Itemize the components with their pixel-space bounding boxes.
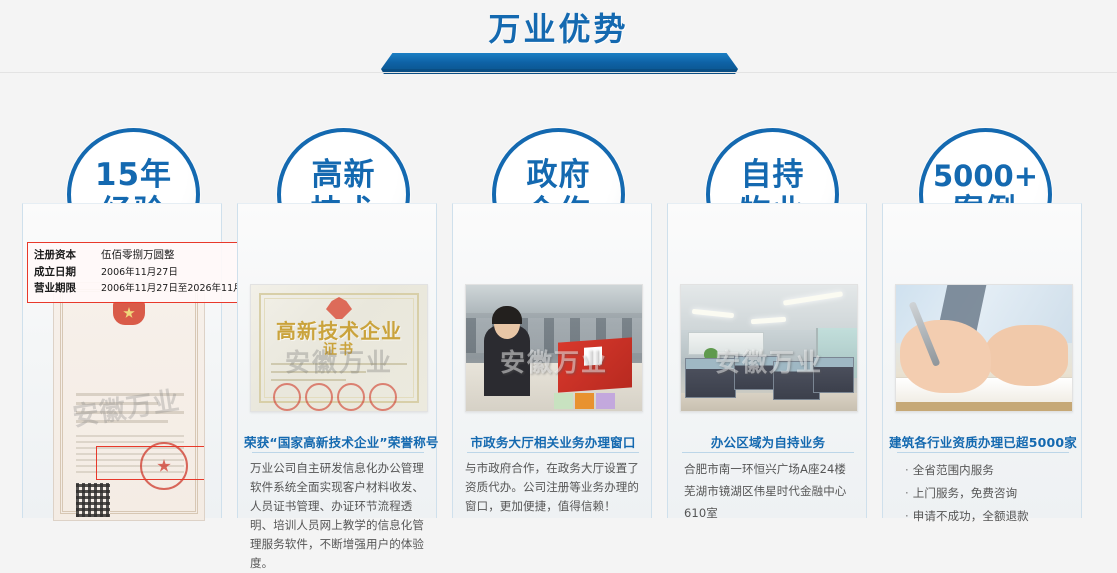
highlight-circle-5-line1: 5000+ (933, 162, 1038, 192)
office-address-line: 合肥市南一环恒兴广场A座24楼 (684, 459, 856, 481)
office-cubicle (813, 357, 854, 393)
license-text-lines (76, 393, 184, 429)
advantage-card-cases[interactable]: 建筑各行业资质办理已超5000家 全省范围内服务 上门服务，免费咨询 申请不成功… (882, 203, 1082, 518)
card-3-caption-body: 与市政府合作，在政务大厅设置了资质代办。公司注册等业务办理的窗口，更加便捷，值得… (465, 459, 641, 516)
office-cubicle (685, 358, 736, 398)
business-license-image: 安徽万业 (53, 282, 205, 521)
hall-brochures (554, 391, 638, 409)
section-header: 万业优势 (0, 0, 1117, 85)
advantage-card-hightech[interactable]: 高新技术企业 证书 安徽万业 荣获“国家高新技术企业”荣誉称号 万业公司自主研发… (237, 203, 437, 518)
header-divider (0, 72, 1117, 73)
card-2-caption-title: 荣获“国家高新技术企业”荣誉称号 (244, 432, 432, 451)
government-hall-photo: 安徽万业 (465, 284, 643, 412)
writing-hand (900, 320, 992, 393)
certificate-seals (273, 383, 405, 409)
advantages-section: 万业优势 15年 经验 高新 技术 政府 合作 自持 物业 5000+ 案例 (0, 0, 1117, 518)
license-annotation-value-2: 2006年11月27日 (101, 265, 178, 280)
certificate-subtitle: 证书 (251, 339, 427, 359)
card-4-caption-title: 办公区域为自持业务 (674, 432, 862, 451)
highlight-circle-4-line1: 自持 (741, 160, 805, 192)
office-cubicle (734, 356, 778, 391)
license-annotation-label-2: 成立日期 (34, 264, 96, 281)
license-annotation-label-1: 注册资本 (34, 247, 96, 264)
staff-person (484, 325, 530, 396)
card-3-caption-title: 市政务大厅相关业务办理窗口 (459, 432, 647, 451)
highlight-circle-2-line1: 高新 (312, 160, 376, 192)
desk-surface (896, 402, 1072, 411)
license-annotation-label-3: 营业期限 (34, 280, 96, 297)
license-annotation-row-1: 注册资本 伍佰零捌万圆整 (34, 247, 236, 264)
title-banner-shape (381, 53, 738, 69)
license-annotation-row-3: 营业期限 2006年11月27日至2026年11月26日 (34, 280, 236, 297)
license-annotation-overlay: 注册资本 伍佰零捌万圆整 成立日期 2006年11月27日 营业期限 2006年… (27, 242, 243, 303)
national-emblem-icon (113, 301, 145, 325)
card-4-caption-divider (682, 452, 854, 453)
red-notice-sign (558, 338, 632, 394)
office-window-blinds (688, 332, 764, 355)
case-bullet-item: 全省范围内服务 (905, 459, 1071, 482)
hall-ceiling (466, 285, 642, 313)
case-bullet-item: 上门服务，免费咨询 (905, 482, 1071, 505)
right-hand (984, 325, 1068, 385)
hightech-certificate-photo: 高新技术企业 证书 安徽万业 (250, 284, 428, 412)
signing-photo (895, 284, 1073, 412)
case-bullet-item: 申请不成功，全额退款 (905, 505, 1071, 528)
card-5-caption-divider (897, 452, 1069, 453)
office-ceiling (681, 285, 857, 330)
card-2-caption-divider (252, 452, 424, 453)
card-5-caption-title: 建筑各行业资质办理已超5000家 (889, 432, 1077, 451)
advantage-cards-row: 安徽万业 注册资本 伍佰零捌万圆整 成立日期 2006年11月27日 营业期限 … (0, 203, 1117, 518)
card-4-caption-body: 合肥市南一环恒兴广场A座24楼 芜湖市镜湖区伟星时代金融中心610室 (684, 459, 856, 525)
card-2-caption-body: 万业公司自主研发信息化办公管理软件系统全面实现客户材料收发、人员证书管理、办证环… (250, 459, 426, 573)
highlight-circle-1-line1: 15年 (95, 160, 172, 192)
advantage-card-license[interactable]: 安徽万业 注册资本 伍佰零捌万圆整 成立日期 2006年11月27日 营业期限 … (22, 203, 222, 518)
license-annotation-box-secondary (96, 446, 205, 480)
sign-qr-icon (584, 347, 602, 366)
office-area-photo: 安徽万业 (680, 284, 858, 412)
license-annotation-row-2: 成立日期 2006年11月27日 (34, 264, 236, 281)
highlight-circle-3-line1: 政府 (527, 160, 591, 192)
license-qr-code-icon (76, 483, 110, 517)
page-title: 万业优势 (0, 4, 1117, 50)
license-annotation-value-1: 伍佰零捌万圆整 (101, 247, 175, 264)
card-3-caption-divider (467, 452, 639, 453)
advantage-card-government[interactable]: 安徽万业 市政务大厅相关业务办理窗口 与市政府合作，在政务大厅设置了资质代办。公… (452, 203, 652, 518)
advantage-card-office[interactable]: 安徽万业 办公区域为自持业务 合肥市南一环恒兴广场A座24楼 芜湖市镜湖区伟星时… (667, 203, 867, 518)
